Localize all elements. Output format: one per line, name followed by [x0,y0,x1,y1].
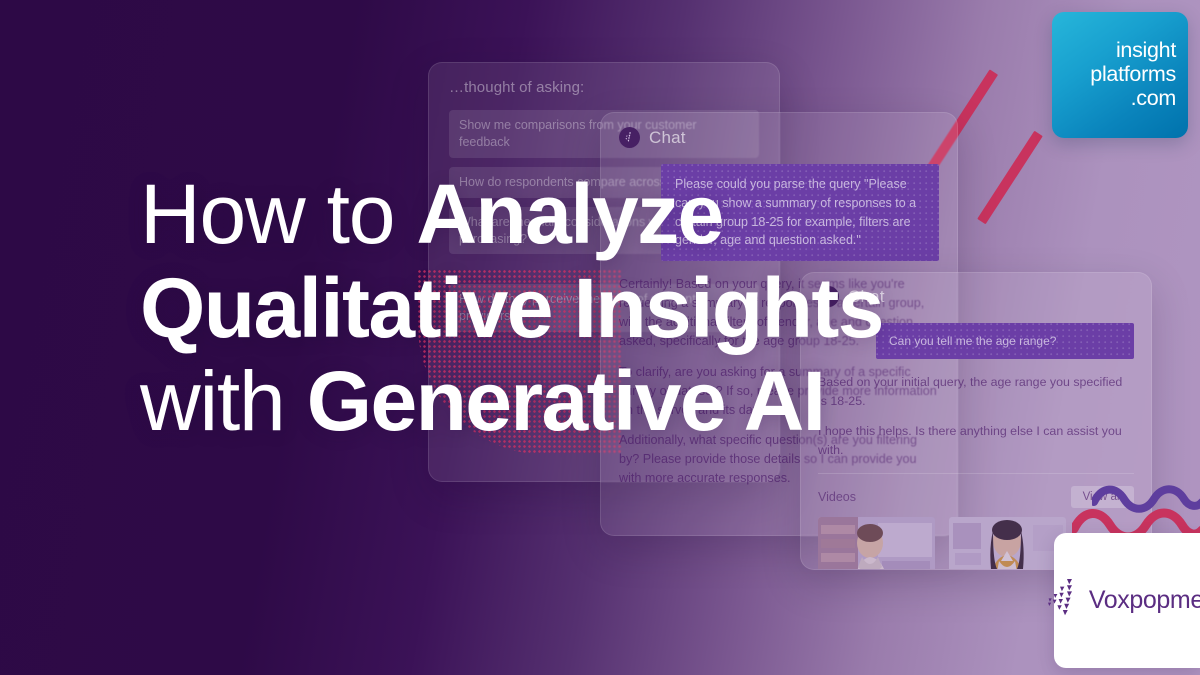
voxpopme-logo[interactable]: Voxpopme® [1054,533,1200,668]
insight-platforms-logo-line1: insight [1116,38,1176,62]
respondent-video-thumbnail-1[interactable] [818,517,935,570]
headline-line-1: How to Analyze [140,168,1080,262]
headline-regular-text: How to [140,167,416,261]
respondent-video-thumbnail-2[interactable] [949,517,1066,570]
headline-regular-text: with [140,354,307,448]
slide-canvas: …thought of asking: Show me comparisons … [0,0,1200,675]
voxpopme-circle-icon [619,127,640,148]
suggestions-hint: …thought of asking: [449,79,759,96]
headline-line-2: Qualitative Insights [140,262,1080,356]
headline-line-3: with Generative AI [140,355,1080,449]
headline-bold-text: Qualitative Insights [140,261,883,355]
chat-card-title: Chat [649,128,686,148]
divider [818,473,1134,474]
insight-platforms-logo[interactable]: insight platforms .com [1052,12,1188,138]
page-title: How to Analyze Qualitative Insights with… [140,168,1080,449]
chat-card-header: Chat [619,127,939,148]
voxpopme-wordmark: Voxpopme [1089,586,1200,614]
headline-bold-text: Analyze [416,167,722,261]
insight-platforms-logo-line3: .com [1131,86,1176,110]
voxpopme-arrow-mark [1048,578,1082,623]
headline-bold-text: Generative AI [307,354,825,448]
voxpopme-logo-text: Voxpopme® [1089,586,1200,615]
insight-platforms-logo-line2: platforms [1090,62,1176,86]
thumbnail-tint-overlay [818,517,935,570]
videos-label: Videos [818,490,856,504]
thumbnail-tint-overlay [949,517,1066,570]
